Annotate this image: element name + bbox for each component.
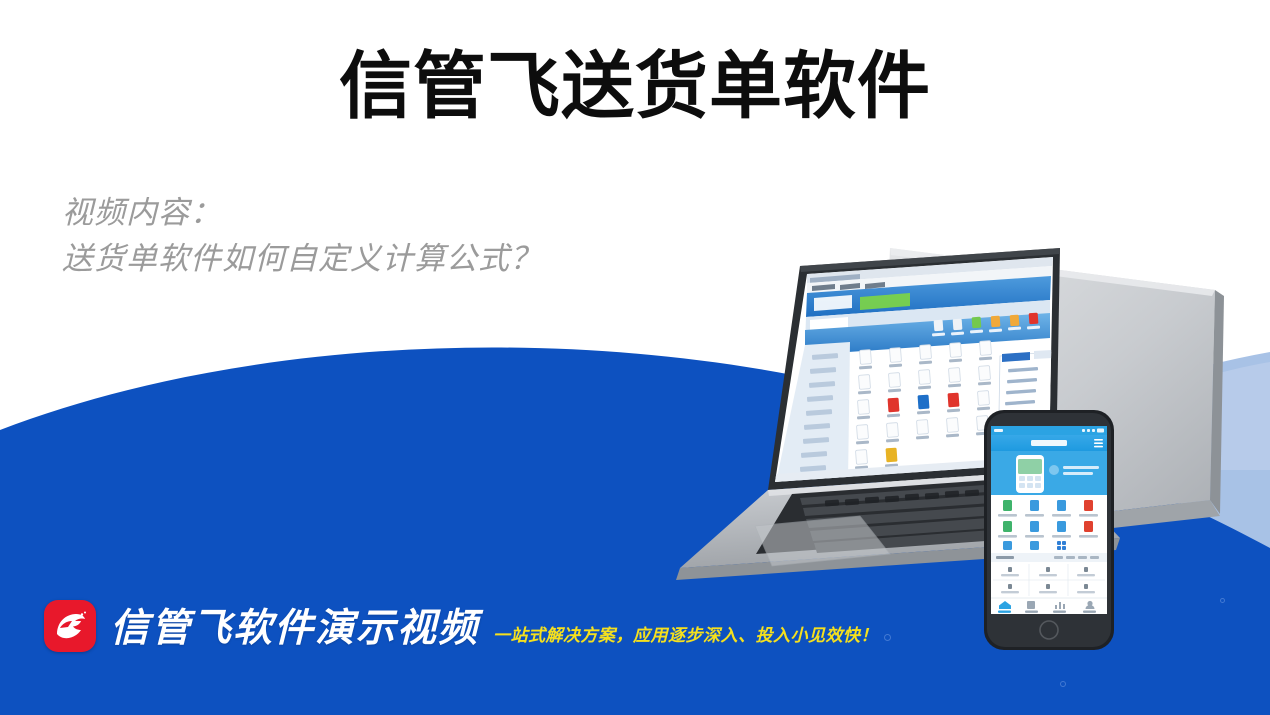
bird-logo-icon — [44, 600, 96, 652]
decor-dot-3 — [1220, 598, 1225, 603]
slide-canvas: 信管飞送货单软件 视频内容： 送货单软件如何自定义计算公式？ — [0, 0, 1270, 715]
brand-bar: 信管飞软件演示视频 一站式解决方案，应用逐步深入、投入小见效快！ — [44, 600, 878, 652]
devices-illustration — [560, 238, 1270, 658]
brand-name: 信管飞软件演示视频 — [110, 606, 479, 652]
smartphone — [984, 410, 1114, 650]
subtitle-line-1: 视频内容： — [62, 195, 222, 231]
brand-tagline: 一站式解决方案，应用逐步深入、投入小见效快！ — [493, 624, 878, 652]
decor-dot-1 — [884, 634, 891, 641]
hamburger-menu-icon — [1094, 439, 1103, 447]
page-title: 信管飞送货单软件 — [0, 44, 1270, 130]
decor-dot-2 — [1060, 681, 1066, 687]
